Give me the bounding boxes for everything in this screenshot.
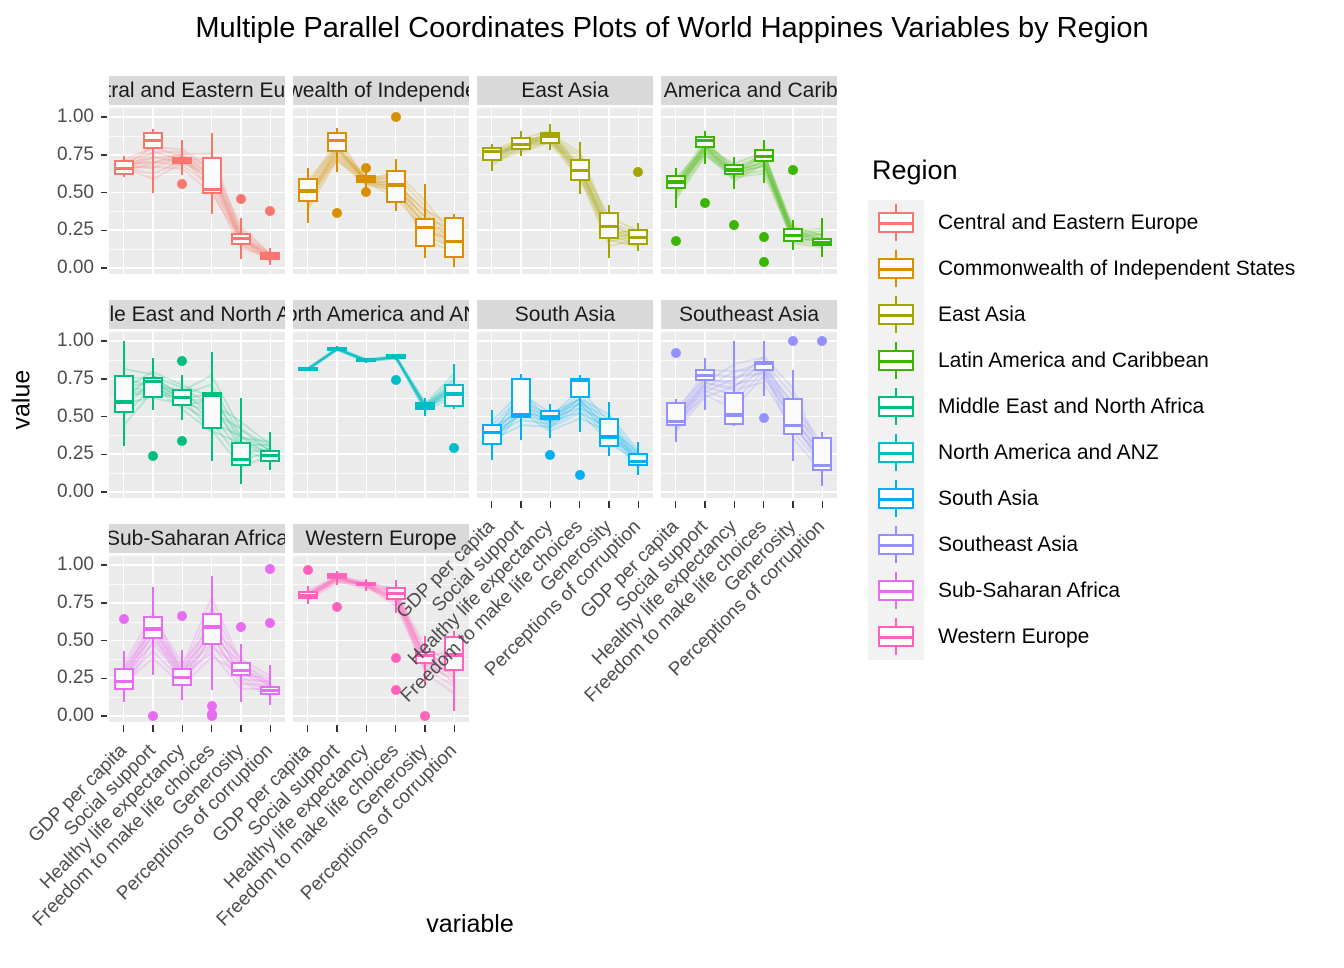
y-tick-label: 0.75 <box>32 593 94 612</box>
gridline-y <box>293 378 469 380</box>
boxplot-outlier <box>671 236 681 246</box>
gridline-y-minor <box>109 584 285 585</box>
y-tick-label: 0.00 <box>32 258 94 277</box>
facet-panel-central-and-eastern-europe <box>109 108 285 274</box>
y-tick-label: 0.75 <box>32 145 94 164</box>
gridline-x <box>182 108 184 274</box>
x-tick-mark <box>182 725 184 732</box>
boxplot-outlier <box>575 470 585 480</box>
boxplot-median <box>356 359 376 362</box>
boxplot-outlier <box>817 336 827 346</box>
boxplot-box <box>202 613 222 645</box>
boxplot-outlier <box>361 163 371 173</box>
gridline-y-minor <box>293 435 469 436</box>
boxplot-box <box>444 384 464 407</box>
legend-item-label: Middle East and North Africa <box>938 395 1204 419</box>
x-tick-mark <box>270 725 272 732</box>
boxplot-median <box>695 374 715 377</box>
y-tick-label: 0.25 <box>32 444 94 463</box>
gridline-y <box>109 491 285 493</box>
boxplot-median <box>260 454 280 457</box>
legend-item-north-america-and-anz[interactable]: North America and ANZ <box>868 430 1295 476</box>
boxplot-whisker <box>269 665 271 705</box>
x-tick-mark <box>763 501 765 508</box>
legend-item-label: Sub-Saharan Africa <box>938 579 1120 603</box>
y-tick-label: 0.50 <box>32 407 94 426</box>
legend-items: Central and Eastern EuropeCommonwealth o… <box>868 200 1295 660</box>
page-title: Multiple Parallel Coordinates Plots of W… <box>0 10 1344 46</box>
legend-item-middle-east-and-north-africa[interactable]: Middle East and North Africa <box>868 384 1295 430</box>
boxplot-median <box>298 594 318 597</box>
boxplot-median <box>482 431 502 434</box>
legend-key-icon <box>868 292 924 338</box>
boxplot-median <box>172 676 192 679</box>
y-tick-mark <box>101 416 107 418</box>
y-tick-mark <box>101 192 107 194</box>
facet-panel-southeast-asia <box>661 332 837 498</box>
boxplot-outlier <box>265 618 275 628</box>
gridline-y-minor <box>109 622 285 623</box>
legend: Region Central and Eastern EuropeCommonw… <box>868 155 1295 660</box>
y-tick-label: 0.00 <box>32 482 94 501</box>
boxplot-outlier <box>361 187 371 197</box>
boxplot-outlier <box>332 208 342 218</box>
boxplot-median <box>143 627 163 630</box>
y-tick-label: 1.00 <box>32 331 94 350</box>
y-tick-mark <box>101 715 107 717</box>
y-tick-mark <box>101 454 107 456</box>
legend-key-icon <box>868 430 924 476</box>
boxplot-median <box>231 237 251 240</box>
boxplot-median <box>724 168 744 171</box>
y-tick-mark <box>101 602 107 604</box>
x-tick-mark <box>792 501 794 508</box>
boxplot-median <box>298 367 318 370</box>
gridline-y <box>477 340 653 342</box>
legend-item-southeast-asia[interactable]: Southeast Asia <box>868 522 1295 568</box>
y-tick-mark <box>101 340 107 342</box>
gridline-y <box>477 378 653 380</box>
x-tick-mark <box>675 501 677 508</box>
legend-key-icon <box>868 476 924 522</box>
legend-key-icon <box>868 200 924 246</box>
legend-item-label: Commonwealth of Independent States <box>938 257 1295 281</box>
boxplot-box <box>114 375 134 413</box>
boxplot-box <box>231 442 251 466</box>
gridline-y-minor <box>477 398 653 399</box>
boxplot-median <box>628 236 648 239</box>
y-tick-mark <box>101 564 107 566</box>
y-tick-label: 1.00 <box>32 555 94 574</box>
x-tick-mark <box>454 725 456 732</box>
boxplot-median <box>356 582 376 585</box>
gridline-x <box>123 108 125 274</box>
gridline-y <box>477 491 653 493</box>
x-tick-mark <box>704 501 706 508</box>
boxplot-outlier <box>265 206 275 216</box>
boxplot-median <box>783 234 803 237</box>
boxplot-box <box>202 392 222 429</box>
boxplot-box <box>783 398 803 435</box>
legend-item-sub-saharan-africa[interactable]: Sub-Saharan Africa <box>868 568 1295 614</box>
gridline-y-minor <box>661 473 837 474</box>
boxplot-outlier <box>148 451 158 461</box>
gridline-x <box>491 108 493 274</box>
x-tick-mark <box>152 725 154 732</box>
boxplot-median <box>202 394 222 397</box>
x-tick-mark <box>491 501 493 508</box>
facet-strip-label: South Asia <box>515 304 615 325</box>
x-tick-mark <box>550 501 552 508</box>
gridline-y <box>293 416 469 418</box>
gridline-y <box>293 116 469 118</box>
facet-strip-label: East Asia <box>521 80 609 101</box>
boxplot-median <box>812 464 832 467</box>
facet-strip-label: Southeast Asia <box>679 304 819 325</box>
boxplot-outlier <box>236 194 246 204</box>
gridline-y <box>109 192 285 194</box>
boxplot-box <box>482 424 502 445</box>
facet-strip-label: Western Europe <box>305 528 456 549</box>
gridline-y-minor <box>109 211 285 212</box>
facet-strip-south-asia: South Asia <box>477 300 653 329</box>
boxplot-median <box>172 158 192 161</box>
boxplot-outlier <box>788 336 798 346</box>
y-tick-label: 0.00 <box>32 706 94 725</box>
boxplot-median <box>415 404 435 407</box>
gridline-y-minor <box>477 473 653 474</box>
gridline-y <box>477 116 653 118</box>
gridline-y <box>293 154 469 156</box>
boxplot-median <box>386 592 406 595</box>
boxplot-box <box>724 392 744 424</box>
gridline-y <box>661 491 837 493</box>
boxplot-outlier <box>265 564 275 574</box>
gridline-y <box>293 340 469 342</box>
facet-panel-middle-east-and-north-africa <box>109 332 285 498</box>
y-tick-mark <box>101 230 107 232</box>
boxplot-median <box>511 413 531 416</box>
boxplot-median <box>356 177 376 180</box>
legend-item-label: Western Europe <box>938 625 1089 649</box>
facet-strip-label: Middle East and North Africa <box>109 304 285 325</box>
boxplot-median <box>511 143 531 146</box>
boxplot-outlier <box>177 356 187 366</box>
gridline-y <box>661 340 837 342</box>
x-tick-mark <box>608 501 610 508</box>
legend-item-latin-america-and-caribbean[interactable]: Latin America and Caribbean <box>868 338 1295 384</box>
gridline-y <box>109 116 285 118</box>
boxplot-box <box>444 217 464 259</box>
x-tick-mark <box>520 501 522 508</box>
facet-panel-north-america-and-anz <box>293 332 469 498</box>
legend-key-icon <box>868 568 924 614</box>
gridline-y-minor <box>109 136 285 137</box>
boxplot-median <box>754 155 774 158</box>
legend-title: Region <box>872 155 1295 186</box>
gridline-y-minor <box>477 211 653 212</box>
gridline-y <box>293 491 469 493</box>
y-tick-mark <box>101 678 107 680</box>
boxplot-outlier <box>545 450 555 460</box>
boxplot-median <box>143 139 163 142</box>
gridline-y-minor <box>661 136 837 137</box>
facet-strip-latin-america-and-caribbean: Latin America and Caribbean <box>661 76 837 105</box>
boxplot-outlier <box>671 348 681 358</box>
gridline-y <box>109 340 285 342</box>
boxplot-median <box>386 183 406 186</box>
gridline-x <box>454 332 456 498</box>
gridline-y <box>109 229 285 231</box>
boxplot-median <box>540 134 560 137</box>
boxplot-box <box>415 218 435 247</box>
boxplot-median <box>231 669 251 672</box>
facet-strip-east-asia: East Asia <box>477 76 653 105</box>
boxplot-median <box>327 574 347 577</box>
y-tick-mark <box>101 116 107 118</box>
gridline-y <box>477 192 653 194</box>
boxplot-outlier <box>119 614 129 624</box>
legend-item-label: South Asia <box>938 487 1038 511</box>
boxplot-median <box>143 380 163 383</box>
boxplot-median <box>666 420 686 423</box>
gridline-y <box>661 267 837 269</box>
boxplot-median <box>415 226 435 229</box>
boxplot-outlier <box>332 602 342 612</box>
boxplot-outlier <box>759 232 769 242</box>
boxplot-outlier <box>759 257 769 267</box>
facet-strip-label: Commonwealth of Independent States <box>293 80 469 101</box>
legend-key-icon <box>868 522 924 568</box>
facet-panel-latin-america-and-caribbean <box>661 108 837 274</box>
y-tick-mark <box>101 154 107 156</box>
legend-item-label: Latin America and Caribbean <box>938 349 1209 373</box>
boxplot-median <box>386 354 406 357</box>
boxplot-outlier <box>303 565 313 575</box>
legend-item-label: Southeast Asia <box>938 533 1078 557</box>
legend-item-commonwealth-of-independent-states[interactable]: Commonwealth of Independent States <box>868 246 1295 292</box>
gridline-y-minor <box>661 211 837 212</box>
gridline-y <box>109 602 285 604</box>
boxplot-median <box>812 241 832 244</box>
y-tick-mark <box>101 640 107 642</box>
boxplot-median <box>444 392 464 395</box>
boxplot-median <box>114 680 134 683</box>
y-tick-label: 0.25 <box>32 220 94 239</box>
boxplot-median <box>260 689 280 692</box>
gridline-y-minor <box>109 697 285 698</box>
legend-item-east-asia[interactable]: East Asia <box>868 292 1295 338</box>
boxplot-median <box>327 139 347 142</box>
boxplot-median <box>695 139 715 142</box>
legend-item-western-europe[interactable]: Western Europe <box>868 614 1295 660</box>
boxplot-median <box>172 396 192 399</box>
boxplot-median <box>570 379 590 382</box>
x-tick-mark <box>734 501 736 508</box>
gridline-y-minor <box>477 360 653 361</box>
y-tick-mark <box>101 491 107 493</box>
boxplot-outlier <box>148 711 158 721</box>
boxplot-median <box>724 413 744 416</box>
boxplot-median <box>260 254 280 257</box>
boxplot-median <box>114 400 134 403</box>
gridline-y-minor <box>293 211 469 212</box>
legend-item-label: North America and ANZ <box>938 441 1159 465</box>
boxplot-median <box>327 347 347 350</box>
legend-key-icon <box>868 246 924 292</box>
gridline-y <box>109 564 285 566</box>
gridline-y-minor <box>293 136 469 137</box>
boxplot-outlier <box>177 179 187 189</box>
boxplot-box <box>599 418 619 447</box>
y-tick-label: 0.75 <box>32 369 94 388</box>
boxplot-median <box>628 460 648 463</box>
boxplot-median <box>444 240 464 243</box>
x-tick-mark <box>123 725 125 732</box>
boxplot-median <box>599 225 619 228</box>
boxplot-outlier <box>788 165 798 175</box>
boxplot-median <box>540 415 560 418</box>
boxplot-median <box>231 458 251 461</box>
facet-panel-south-asia <box>477 332 653 498</box>
gridline-x <box>270 332 272 498</box>
legend-item-label: Central and Eastern Europe <box>938 211 1198 235</box>
facet-strip-label: Latin America and Caribbean <box>661 80 837 101</box>
boxplot-median <box>666 180 686 183</box>
gridline-y-minor <box>109 360 285 361</box>
gridline-y-minor <box>109 473 285 474</box>
gridline-y <box>661 154 837 156</box>
facet-strip-middle-east-and-north-africa: Middle East and North Africa <box>109 300 285 329</box>
facet-strip-sub-saharan-africa: Sub-Saharan Africa <box>109 524 285 553</box>
x-tick-mark <box>579 501 581 508</box>
gridline-x <box>307 332 309 498</box>
gridline-y-minor <box>293 249 469 250</box>
gridline-y <box>477 267 653 269</box>
gridline-x <box>336 332 338 498</box>
boxplot-median <box>202 625 222 628</box>
y-tick-mark <box>101 267 107 269</box>
boxplot-outlier <box>207 711 217 721</box>
facet-panel-sub-saharan-africa <box>109 556 285 722</box>
gridline-x <box>704 332 706 498</box>
gridline-y-minor <box>661 249 837 250</box>
gridline-y-minor <box>477 249 653 250</box>
boxplot-outlier <box>177 611 187 621</box>
gridline-y <box>661 116 837 118</box>
boxplot-outlier <box>236 622 246 632</box>
boxplot-outlier <box>759 413 769 423</box>
boxplot-outlier <box>391 112 401 122</box>
gridline-y-minor <box>477 174 653 175</box>
boxplot-whisker <box>704 358 706 410</box>
gridline-y <box>661 192 837 194</box>
x-tick-mark <box>211 725 213 732</box>
facet-strip-label: Central and Eastern Europe <box>109 80 285 101</box>
boxplot-outlier <box>391 375 401 385</box>
boxplot-outlier <box>633 167 643 177</box>
legend-key-icon <box>868 384 924 430</box>
x-tick-mark <box>638 501 640 508</box>
y-tick-label: 0.25 <box>32 668 94 687</box>
facet-strip-label: North America and ANZ <box>293 304 469 325</box>
legend-item-central-and-eastern-europe[interactable]: Central and Eastern Europe <box>868 200 1295 246</box>
boxplot-outlier <box>700 198 710 208</box>
facet-strip-western-europe: Western Europe <box>293 524 469 553</box>
legend-key-icon <box>868 338 924 384</box>
gridline-y <box>293 453 469 455</box>
boxplot-median <box>599 435 619 438</box>
chart-root: Multiple Parallel Coordinates Plots of W… <box>0 0 1344 960</box>
legend-key-icon <box>868 614 924 660</box>
boxplot-median <box>482 150 502 153</box>
facet-strip-southeast-asia: Southeast Asia <box>661 300 837 329</box>
gridline-y <box>293 192 469 194</box>
facet-strip-commonwealth-of-independent-states: Commonwealth of Independent States <box>293 76 469 105</box>
gridline-y-minor <box>293 473 469 474</box>
boxplot-median <box>298 189 318 192</box>
facet-strip-central-and-eastern-europe: Central and Eastern Europe <box>109 76 285 105</box>
boxplot-median <box>570 169 590 172</box>
x-tick-mark <box>822 501 824 508</box>
boxplot-median <box>114 167 134 170</box>
gridline-y <box>109 267 285 269</box>
y-tick-label: 0.50 <box>32 183 94 202</box>
gridline-x <box>734 108 736 274</box>
facet-panel-east-asia <box>477 108 653 274</box>
facet-panel-commonwealth-of-independent-states <box>293 108 469 274</box>
x-tick-mark <box>240 725 242 732</box>
boxplot-outlier <box>449 443 459 453</box>
boxplot-box <box>511 378 531 418</box>
legend-item-south-asia[interactable]: South Asia <box>868 476 1295 522</box>
gridline-x <box>763 108 765 274</box>
gridline-y-minor <box>477 136 653 137</box>
gridline-y <box>109 715 285 717</box>
y-tick-label: 1.00 <box>32 107 94 126</box>
y-tick-label: 0.50 <box>32 631 94 650</box>
facet-strip-label: Sub-Saharan Africa <box>109 528 285 549</box>
legend-item-label: East Asia <box>938 303 1026 327</box>
boxplot-median <box>754 361 774 364</box>
gridline-y <box>293 267 469 269</box>
facet-strip-north-america-and-anz: North America and ANZ <box>293 300 469 329</box>
boxplot-outlier <box>177 436 187 446</box>
y-tick-mark <box>101 378 107 380</box>
boxplot-median <box>783 424 803 427</box>
boxplot-median <box>202 188 222 191</box>
